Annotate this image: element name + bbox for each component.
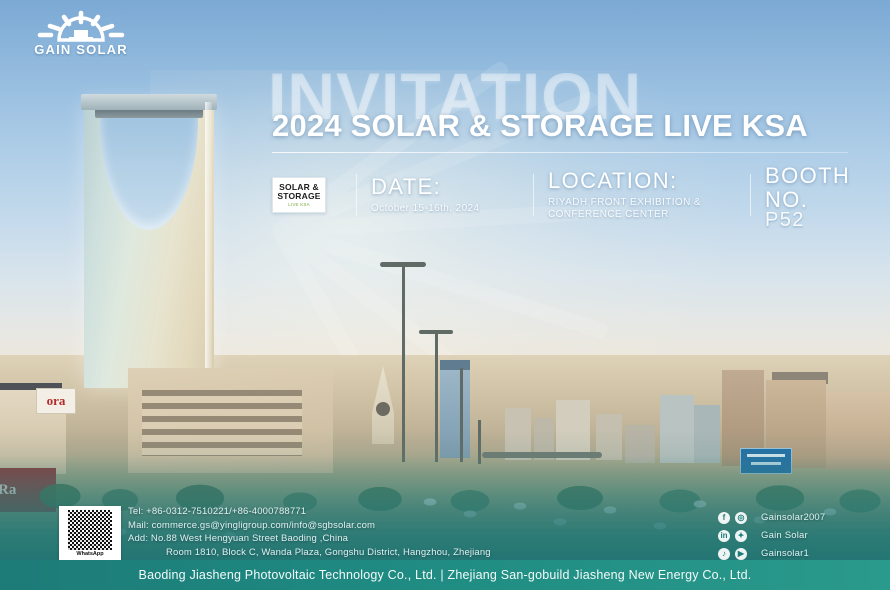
- instagram-icon[interactable]: ◎: [735, 512, 747, 524]
- solar-storage-badge: SOLAR & STORAGE LIVE KSA: [272, 177, 326, 213]
- sun-logo-icon: [26, 10, 136, 44]
- social-links: f ◎ Gainsolar2007 in ✦ Gain Solar ♪ ▶ Ga…: [718, 510, 888, 564]
- contact-address: Add: No.88 West Hengyuan Street Baoding …: [128, 532, 548, 546]
- page-title: 2024 SOLAR & STORAGE LIVE KSA: [272, 108, 872, 144]
- divider: [533, 174, 534, 216]
- whatsapp-qr-code: WhatsApp: [59, 506, 121, 562]
- invitation-poster: ora Ra: [0, 0, 890, 590]
- title-divider: [272, 152, 848, 153]
- twitter-icon[interactable]: ✦: [735, 530, 747, 542]
- facebook-icon[interactable]: f: [718, 512, 730, 524]
- social-row[interactable]: in ✦ Gain Solar: [718, 528, 888, 543]
- location-label: LOCATION:: [548, 169, 736, 193]
- gain-solar-logo: GAIN SOLAR: [26, 10, 136, 58]
- social-handle: Gainsolar1: [761, 548, 809, 559]
- youtube-icon[interactable]: ▶: [735, 548, 747, 560]
- location-block: LOCATION: RIYADH FRONT EXHIBITION & CONF…: [548, 169, 736, 221]
- date-value: October 15-16th, 2024: [371, 203, 519, 215]
- social-row[interactable]: f ◎ Gainsolar2007: [718, 510, 888, 525]
- kingdom-centre-tower: [84, 88, 214, 388]
- linkedin-icon[interactable]: in: [718, 530, 730, 542]
- contact-mail: Mail: commerce.gs@yingligroup.com/info@s…: [128, 519, 548, 533]
- badge-line-3: LIVE KSA: [288, 202, 310, 207]
- footer-bar: Baoding Jiasheng Photovoltaic Technology…: [0, 560, 890, 590]
- social-handle: Gainsolar2007: [761, 512, 825, 523]
- booth-block: BOOTH NO. P52: [765, 164, 890, 226]
- footer-company-names: Baoding Jiasheng Photovoltaic Technology…: [139, 568, 752, 582]
- tiktok-icon[interactable]: ♪: [718, 548, 730, 560]
- date-block: DATE: October 15-16th, 2024: [371, 175, 519, 215]
- event-info-bar: SOLAR & STORAGE LIVE KSA DATE: October 1…: [272, 168, 848, 222]
- qr-caption: WhatsApp: [62, 551, 118, 557]
- divider: [356, 174, 357, 216]
- date-label: DATE:: [371, 175, 519, 199]
- ora-billboard: ora: [36, 388, 76, 414]
- logo-wordmark: GAIN SOLAR: [26, 42, 136, 57]
- location-value: RIYADH FRONT EXHIBITION & CONFERENCE CEN…: [548, 197, 736, 221]
- divider: [750, 174, 751, 216]
- badge-line-2: STORAGE: [277, 192, 320, 201]
- qr-code-image: [68, 510, 112, 550]
- contact-tel: Tel: +86-0312-7510221/+86-4000788771: [128, 505, 548, 519]
- social-row[interactable]: ♪ ▶ Gainsolar1: [718, 546, 888, 561]
- booth-value: P52: [765, 214, 890, 226]
- contact-address-2: Room 1810, Block C, Wanda Plaza, Gongshu…: [128, 546, 548, 560]
- social-handle: Gain Solar: [761, 530, 808, 541]
- booth-label: BOOTH NO.: [765, 164, 890, 212]
